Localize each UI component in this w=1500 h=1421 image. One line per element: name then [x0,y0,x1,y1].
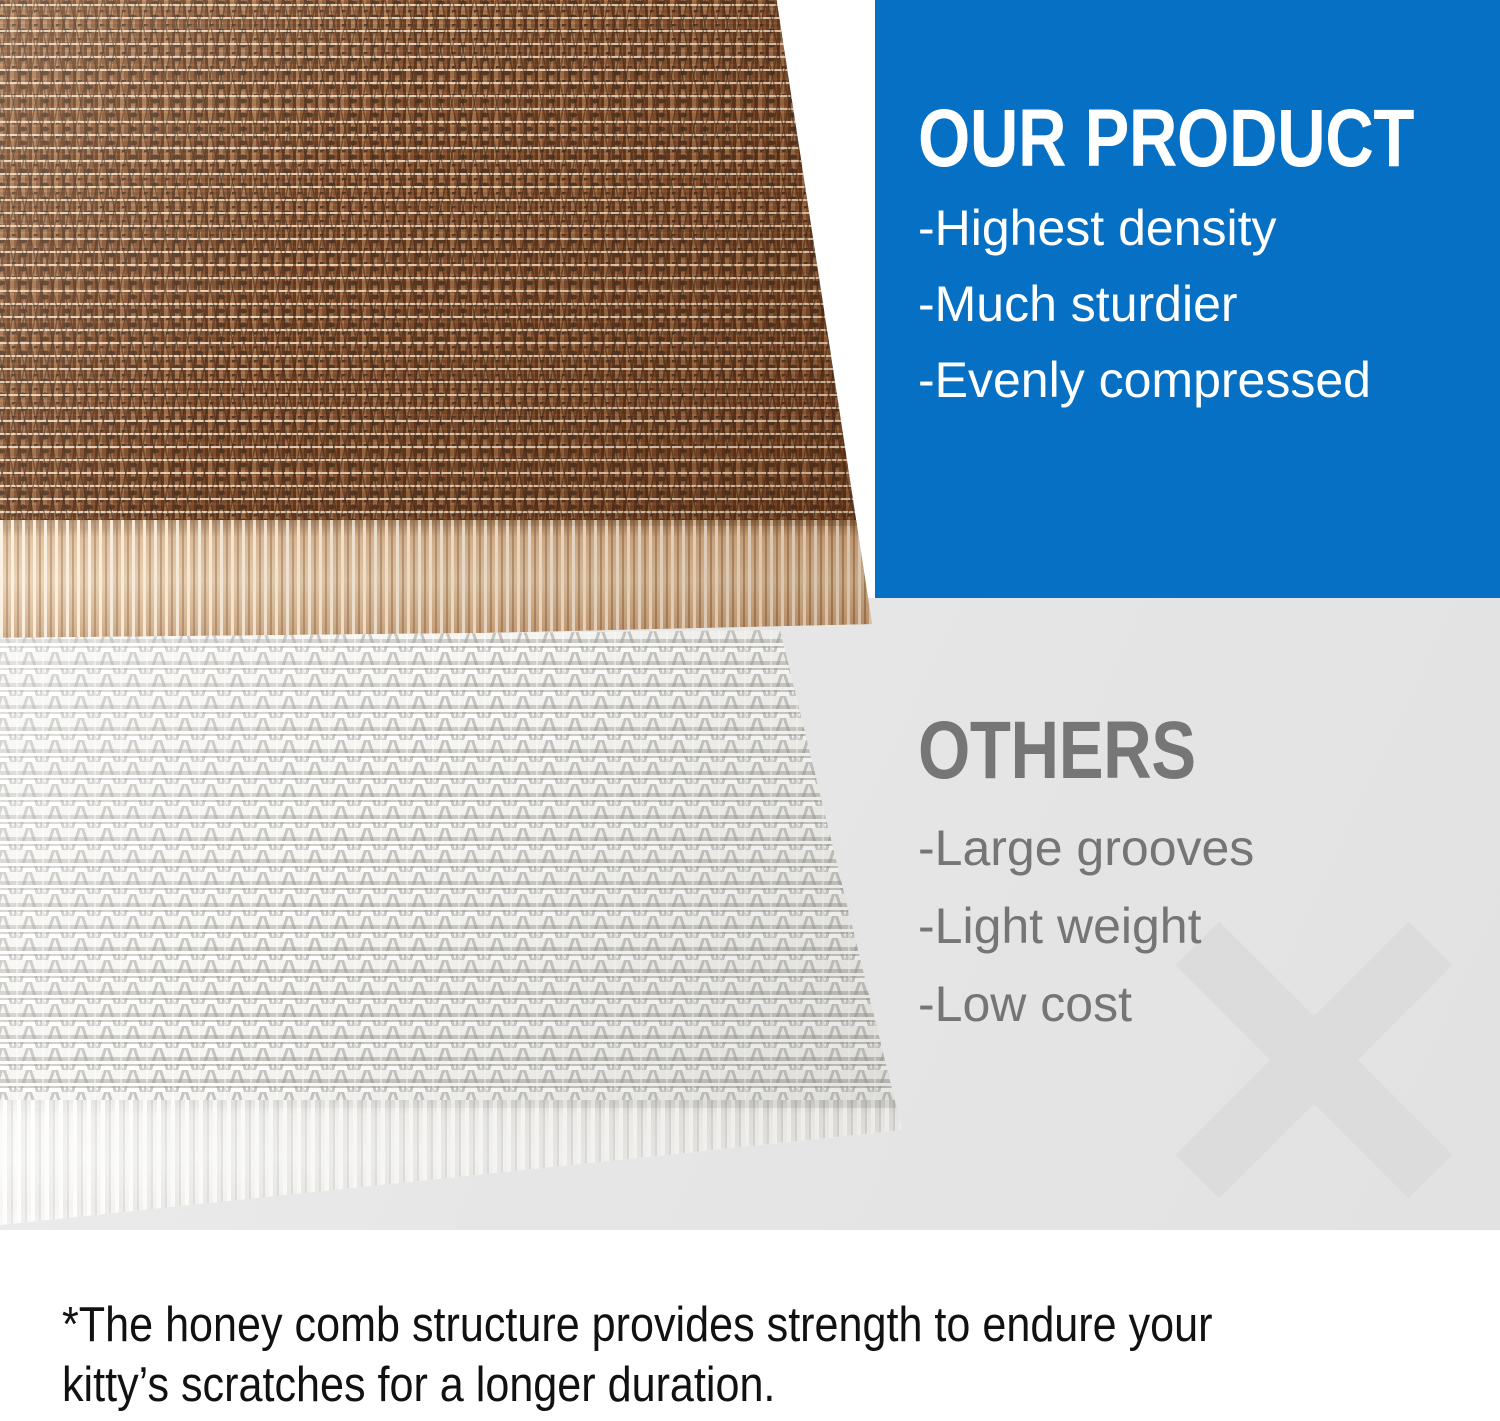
our-product-bullet-1: -Highest density [918,196,1500,260]
white-honeycomb-board-photo [0,630,920,1230]
others-heading: OTHERS [918,710,1196,792]
others-bullet-2: -Light weight [918,894,1257,958]
our-product-heading: OUR PRODUCT [918,98,1414,180]
others-bullet-3: -Low cost [918,972,1257,1036]
others-bullet-1: -Large grooves [918,816,1257,880]
others-text-block: OTHERS -Large grooves -Light weight -Low… [918,710,1257,1050]
infographic-canvas: OUR PRODUCT -Highest density -Much sturd… [0,0,1500,1421]
our-product-bullet-3: -Evenly compressed [918,348,1500,412]
our-product-bullet-2: -Much sturdier [918,272,1500,336]
brown-board-face-texture [0,0,880,526]
white-board-face-texture [0,630,920,1108]
our-product-text-block: OUR PRODUCT -Highest density -Much sturd… [918,98,1500,424]
our-product-bullet-list: -Highest density -Much sturdier -Evenly … [918,196,1500,412]
footnote-caption: *The honey comb structure provides stren… [62,1296,1294,1416]
brown-honeycomb-board-photo [0,0,880,646]
others-bullet-list: -Large grooves -Light weight -Low cost [918,816,1257,1036]
